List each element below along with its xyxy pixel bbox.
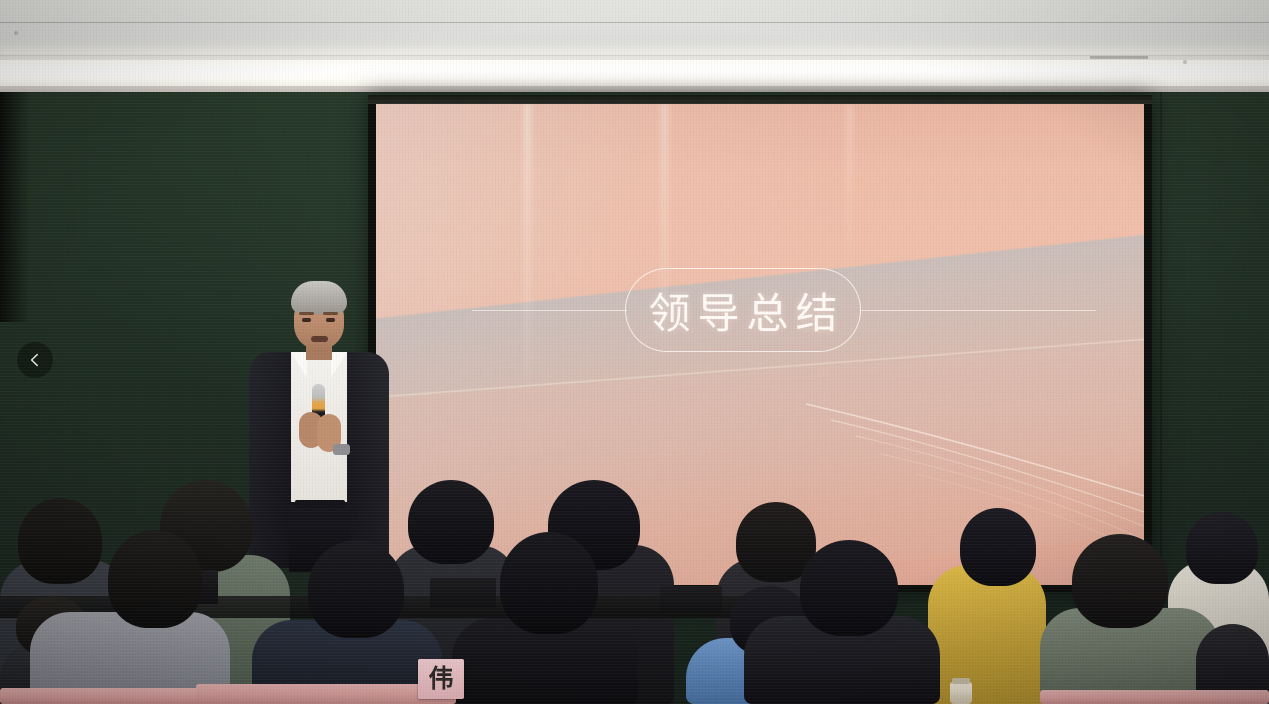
presenter: [243, 272, 393, 572]
front-desk: [1040, 690, 1269, 704]
ceiling-light-bar: [0, 60, 1269, 86]
front-desk: [0, 688, 200, 704]
audience-member-head: [18, 498, 102, 584]
front-desk: [196, 684, 456, 704]
presenter-eye: [326, 318, 335, 322]
audience-member-body: [928, 565, 1046, 704]
presenter-wristwatch: [333, 444, 350, 455]
slide-rule-left: [472, 310, 627, 311]
audience-member-head: [1186, 512, 1258, 584]
previous-image-button[interactable]: [17, 342, 53, 378]
audience-member-head: [960, 508, 1036, 586]
name-placard-text: 伟: [428, 667, 453, 692]
presenter-collar: [331, 352, 347, 378]
projection-screen-top-rail: [368, 95, 1152, 104]
presenter-collar: [291, 352, 307, 378]
presenter-hair: [291, 281, 347, 314]
wall-shadow-left: [0, 92, 30, 322]
audience-member-head: [308, 540, 404, 638]
laptop: [660, 586, 722, 612]
ceiling-fixture-dot: [1183, 60, 1187, 64]
presenter-mouth: [311, 336, 328, 342]
presenter-eyebrow: [299, 312, 314, 315]
slide-title-text: 领导总结: [641, 280, 844, 341]
audience-member-head: [500, 532, 598, 634]
presenter-belt: [295, 500, 345, 509]
water-bottle-cap: [952, 678, 970, 684]
ceiling-seam: [0, 22, 1269, 23]
laptop: [430, 578, 496, 608]
chevron-left-icon: [27, 352, 43, 368]
slide-rule-right: [860, 310, 1096, 311]
name-placard: 伟: [418, 659, 464, 699]
ceiling-fixture-dot: [14, 31, 18, 35]
audience-member-head: [108, 530, 202, 628]
presenter-eyebrow: [323, 312, 338, 315]
water-bottle: [950, 682, 972, 704]
ceiling-vent: [1090, 56, 1148, 59]
presenter-eye: [302, 318, 311, 322]
audience-member-head: [1072, 534, 1168, 628]
slide-title-capsule: 领导总结: [625, 268, 861, 352]
ceiling-seam: [0, 55, 1269, 56]
audience-member-head: [408, 480, 494, 564]
screenshot-root: 领导总结: [0, 0, 1269, 704]
audience-member-head: [800, 540, 898, 636]
